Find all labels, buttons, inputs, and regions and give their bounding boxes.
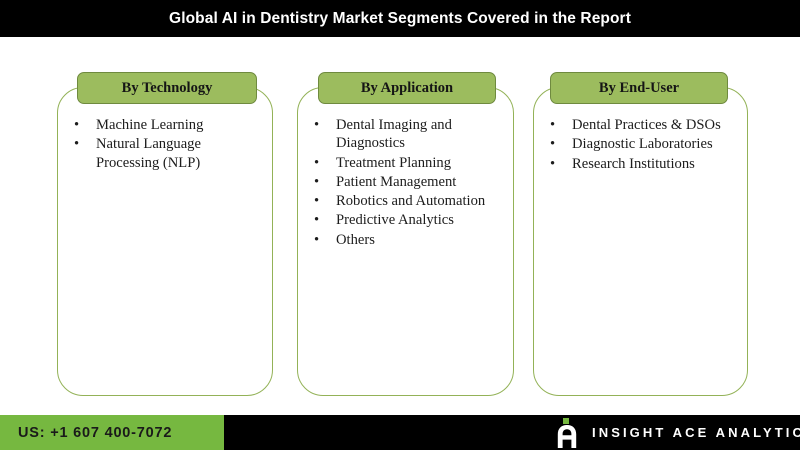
footer-bar: US: +1 607 400-7072 INSIGHT ACE ANALYTIC [0,415,800,450]
list-item: • Dental Practices & DSOs [544,116,741,134]
segment-card-by-technology: By Technology • Machine Learning • Natur… [57,87,273,396]
list-item: • Research Institutions [544,155,741,173]
list-item-label: Dental Imaging and Diagnostics [336,117,452,151]
list-item-label: Diagnostic Laboratories [572,136,713,152]
insight-ace-a-mark-icon [556,417,578,448]
list-item: • Natural Language Processing (NLP) [68,135,266,172]
bullet-icon: • [314,231,319,249]
segment-header-by-end-user: By End-User [550,72,728,104]
segment-header-by-technology: By Technology [77,72,257,104]
list-item-label: Patient Management [336,174,456,190]
segment-list-by-end-user: • Dental Practices & DSOs • Diagnostic L… [544,116,741,173]
list-item-label: Dental Practices & DSOs [572,117,721,133]
list-item-label: Research Institutions [572,156,695,172]
list-item: • Diagnostic Laboratories [544,135,741,153]
list-item-label: Natural Language Processing (NLP) [96,136,201,170]
brand-name-label: INSIGHT ACE ANALYTIC [592,425,800,440]
bullet-icon: • [550,155,555,173]
list-item: • Machine Learning [68,116,266,134]
list-item: • Others [308,231,507,249]
segment-card-by-end-user: By End-User • Dental Practices & DSOs • … [533,87,748,396]
contact-phone-box[interactable]: US: +1 607 400-7072 [0,415,224,450]
segment-body-by-end-user: • Dental Practices & DSOs • Diagnostic L… [534,116,747,174]
list-item-label: Predictive Analytics [336,212,454,228]
list-item-label: Others [336,232,375,248]
logo-square-accent [563,418,569,424]
list-item: • Dental Imaging and Diagnostics [308,116,507,153]
segment-header-by-application: By Application [318,72,496,104]
segments-container: By Technology • Machine Learning • Natur… [0,37,800,415]
bullet-icon: • [314,211,319,229]
list-item: • Treatment Planning [308,154,507,172]
title-bar: Global AI in Dentistry Market Segments C… [0,0,800,37]
segment-body-by-application: • Dental Imaging and Diagnostics • Treat… [298,116,513,250]
segment-card-by-application: By Application • Dental Imaging and Diag… [297,87,514,396]
infographic-page: Global AI in Dentistry Market Segments C… [0,0,800,450]
segment-list-by-application: • Dental Imaging and Diagnostics • Treat… [308,116,507,249]
segment-header-label: By Application [361,80,453,97]
bullet-icon: • [550,116,555,134]
bullet-icon: • [314,192,319,210]
brand-logo: INSIGHT ACE ANALYTIC [556,415,800,450]
segment-body-by-technology: • Machine Learning • Natural Language Pr… [58,116,272,173]
list-item: • Robotics and Automation [308,192,507,210]
contact-phone-label: US: +1 607 400-7072 [18,425,172,441]
bullet-icon: • [314,173,319,191]
segment-list-by-technology: • Machine Learning • Natural Language Pr… [68,116,266,172]
segment-header-label: By End-User [599,80,679,97]
list-item-label: Treatment Planning [336,155,451,171]
page-title: Global AI in Dentistry Market Segments C… [169,10,631,28]
bullet-icon: • [314,154,319,172]
bullet-icon: • [550,135,555,153]
bullet-icon: • [74,116,79,134]
bullet-icon: • [314,116,319,134]
list-item: • Patient Management [308,173,507,191]
logo-a-glyph-icon [556,425,578,448]
list-item-label: Machine Learning [96,117,203,133]
bullet-icon: • [74,135,79,153]
list-item-label: Robotics and Automation [336,193,485,209]
list-item: • Predictive Analytics [308,211,507,229]
segment-header-label: By Technology [122,80,213,97]
